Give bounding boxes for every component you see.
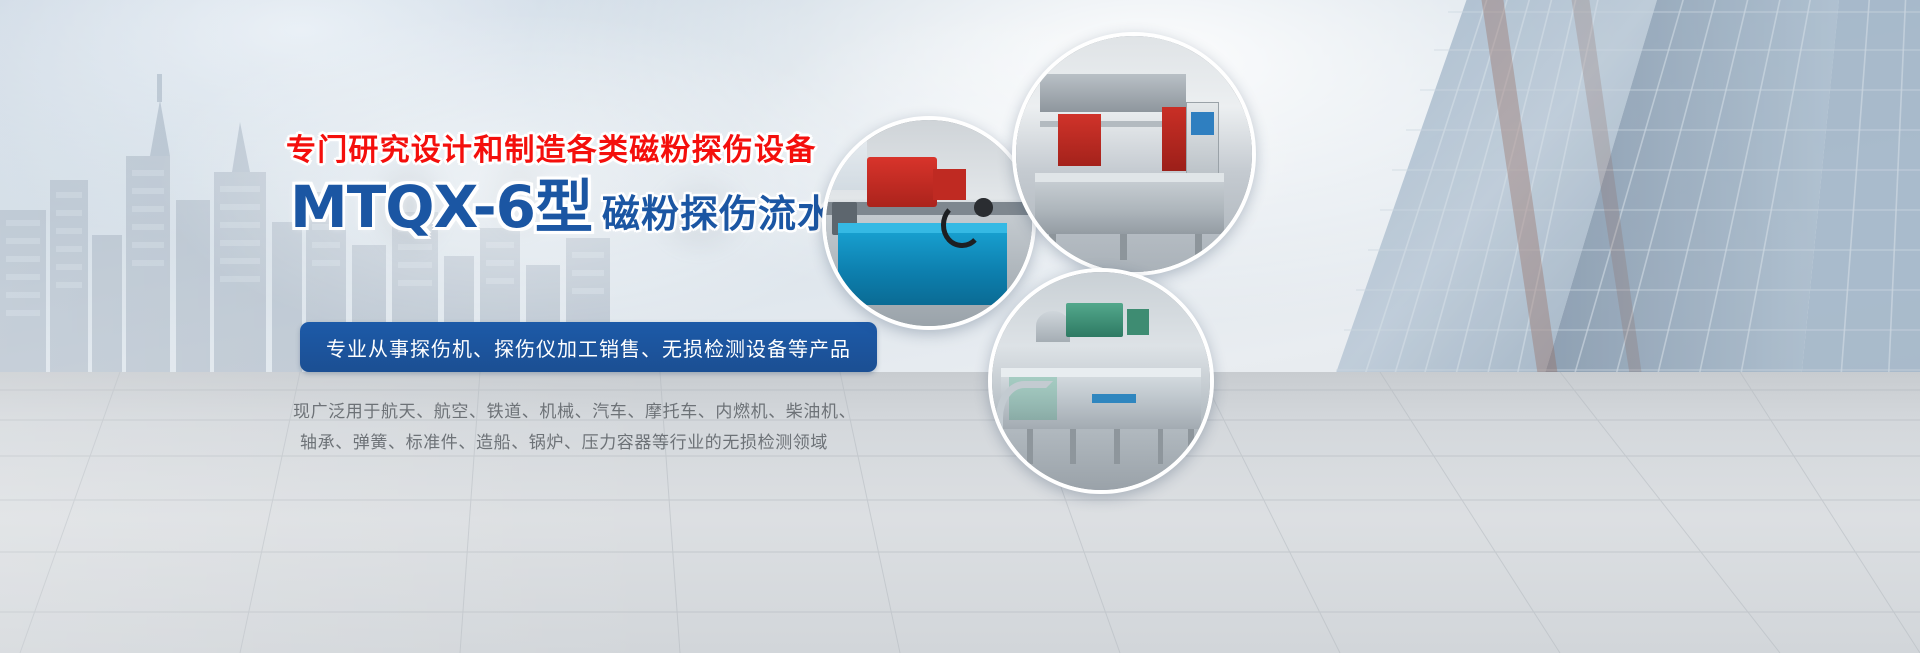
services-tagline-badge: 专业从事探伤机、探伤仪加工销售、无损检测设备等产品 <box>300 322 877 372</box>
banner-title: MTQX-6型 磁粉探伤流水线 <box>290 178 875 236</box>
product-model-name: MTQX-6型 <box>290 178 592 236</box>
description-line-2: 轴承、弹簧、标准件、造船、锅炉、压力容器等行业的无损检测领域 <box>293 428 813 459</box>
services-tagline-text: 专业从事探伤机、探伤仪加工销售、无损检测设备等产品 <box>326 333 851 362</box>
banner-text-block: 专门研究设计和制造各类磁粉探伤设备 MTQX-6型 磁粉探伤流水线 专业从事探伤… <box>0 0 860 500</box>
product-hero-banner: 专门研究设计和制造各类磁粉探伤设备 MTQX-6型 磁粉探伤流水线 专业从事探伤… <box>0 0 1920 653</box>
glass-tower-building <box>1240 0 1920 390</box>
application-description: 现广泛用于航天、航空、铁道、机械、汽车、摩托车、内燃机、柴油机、 轴承、弹簧、标… <box>293 397 813 459</box>
description-line-1: 现广泛用于航天、航空、铁道、机械、汽车、摩托车、内燃机、柴油机、 <box>293 397 813 428</box>
banner-headline: 专门研究设计和制造各类磁粉探伤设备 <box>286 125 816 169</box>
product-photo-production-line <box>988 268 1214 494</box>
product-photo-inspection-booth <box>1012 32 1256 276</box>
